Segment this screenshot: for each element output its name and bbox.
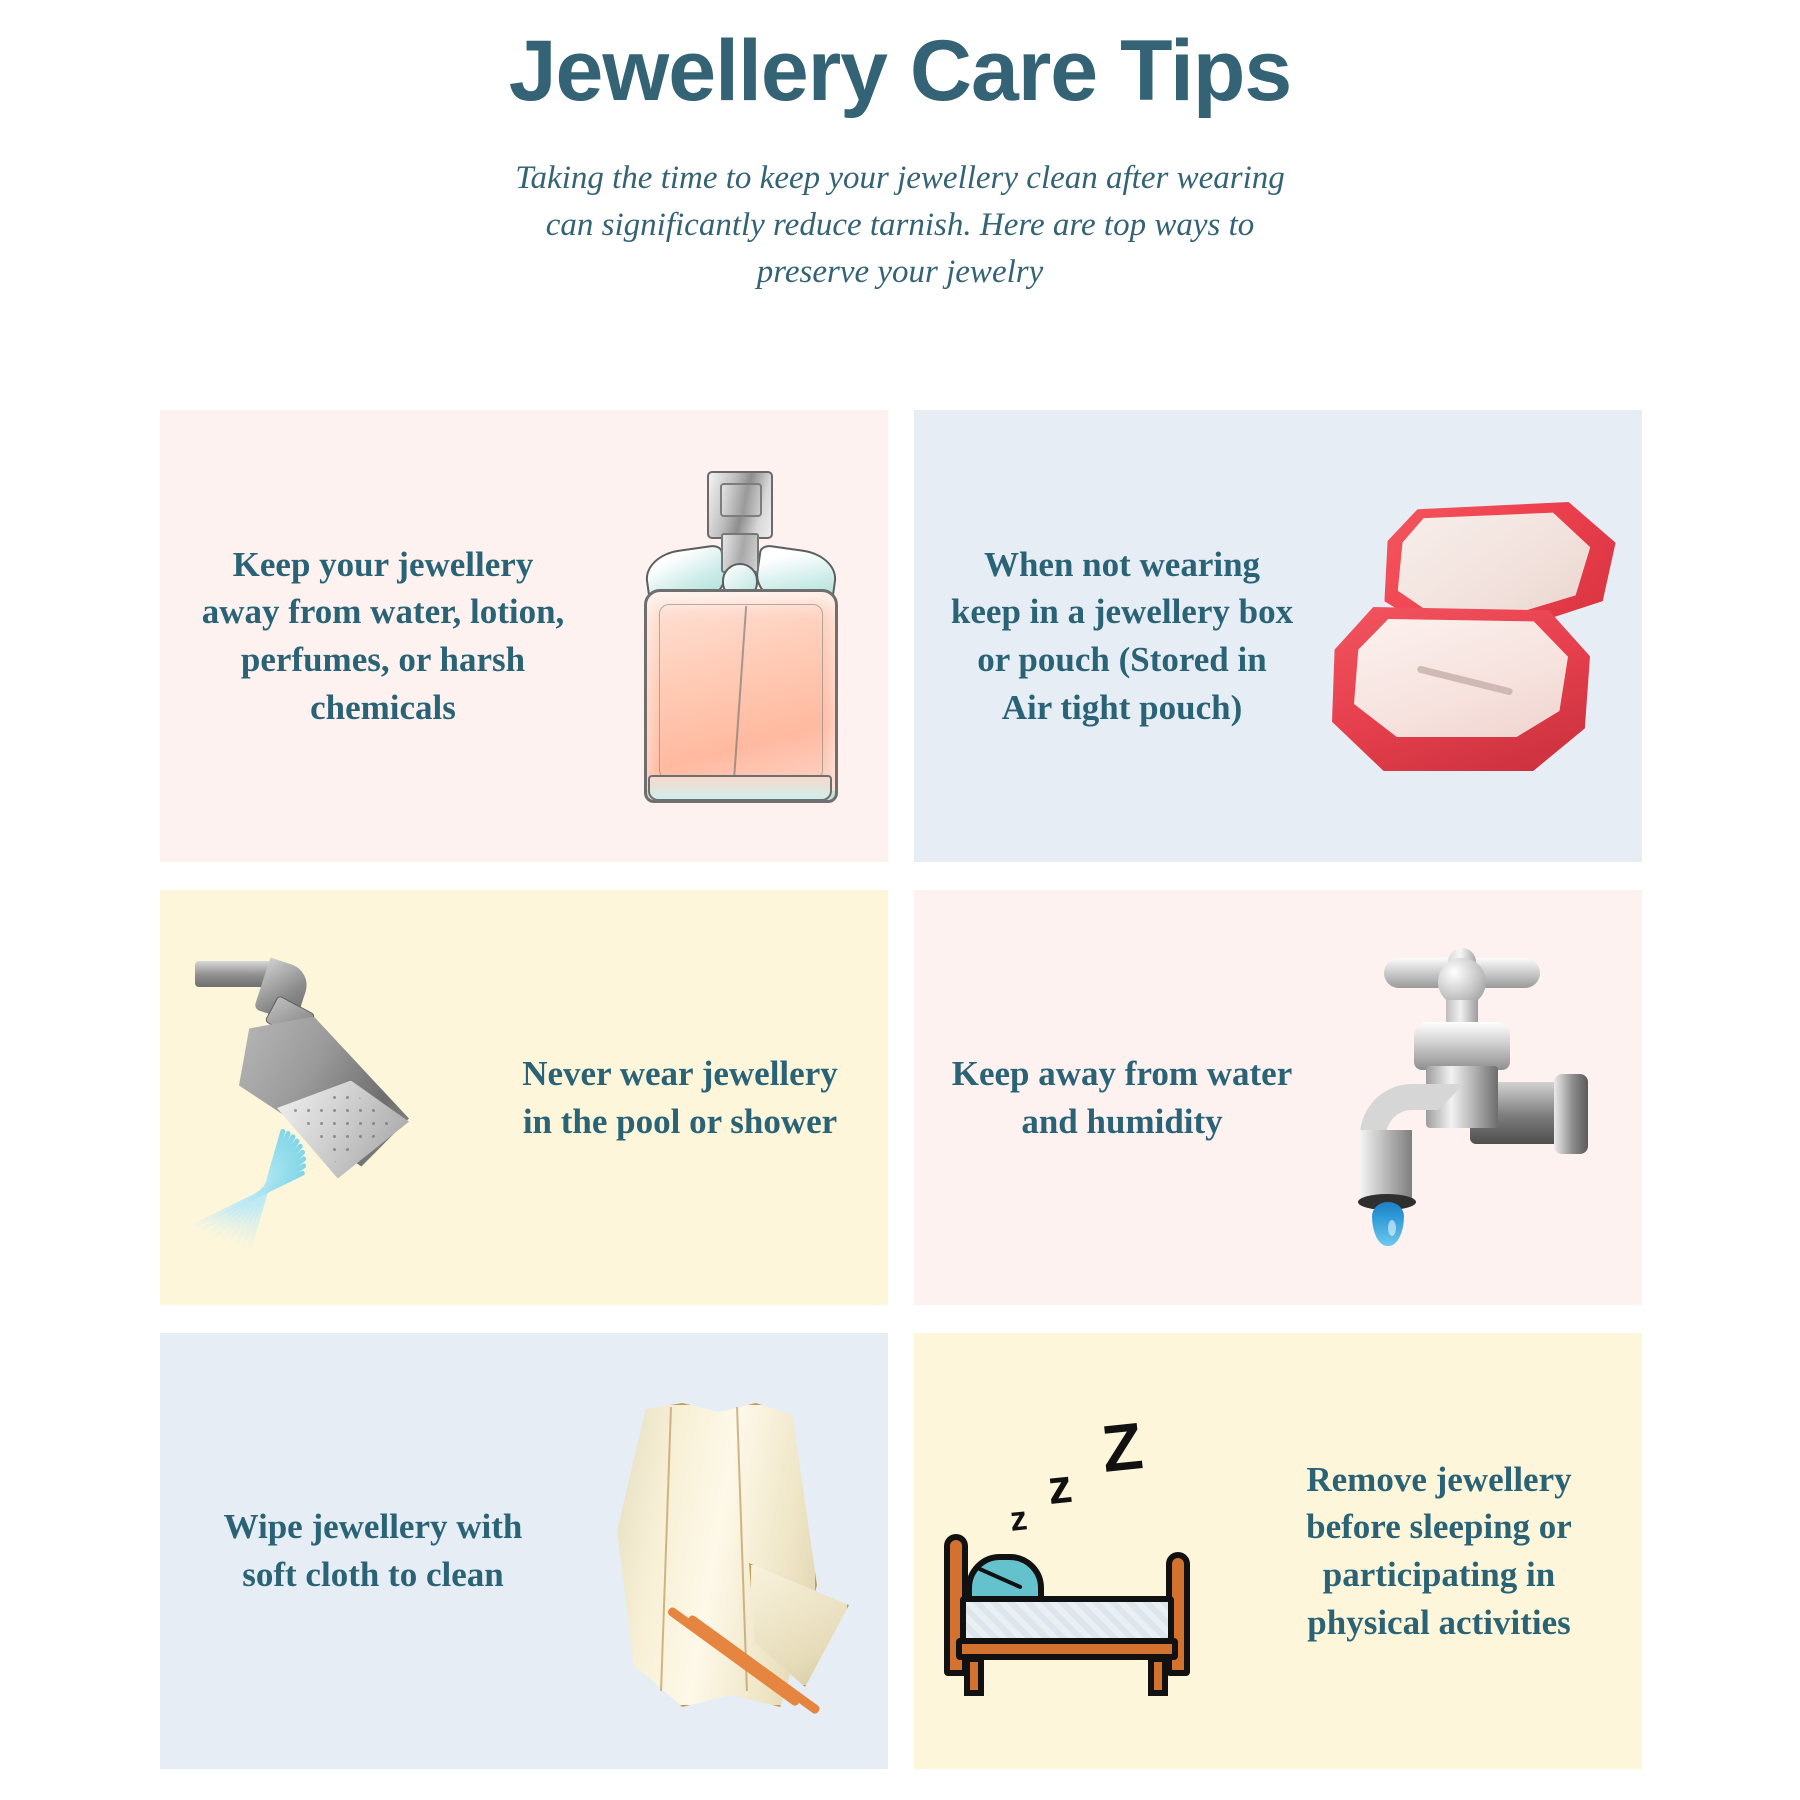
sleep-z-medium-icon: z <box>1046 1463 1075 1513</box>
perfume-bottle-icon <box>588 436 888 836</box>
sleep-z-small-icon: z <box>1008 1501 1028 1537</box>
tip-card-pool-shower: Never wear jewellery in the pool or show… <box>160 890 888 1305</box>
perfume-base-icon <box>648 775 832 801</box>
page-title: Jewellery Care Tips <box>0 26 1800 117</box>
bed-leg-right-icon <box>1148 1656 1168 1696</box>
bed-mattress-icon <box>960 1596 1174 1644</box>
tips-grid: Keep your jewellery away from water, lot… <box>160 410 1642 1769</box>
bed-pillow-icon <box>966 1554 1044 1602</box>
shower-spray-icon <box>281 1129 481 1279</box>
tip-card-text: Wipe jewellery with soft cloth to clean <box>160 1503 568 1598</box>
tip-card-wipe-cloth: Wipe jewellery with soft cloth to clean <box>160 1333 888 1769</box>
tip-card-text: Keep your jewellery away from water, lot… <box>160 541 588 731</box>
tip-card-storage: When not wearing keep in a jewellery box… <box>914 410 1642 862</box>
jewellery-box-icon <box>1312 436 1642 836</box>
header: Jewellery Care Tips Taking the time to k… <box>0 26 1800 296</box>
page-subtitle: Taking the time to keep your jewellery c… <box>500 155 1300 296</box>
shower-head-icon <box>160 898 490 1298</box>
bed-frame-icon <box>956 1638 1178 1660</box>
tip-card-text: Remove jewellery before sleeping or part… <box>1254 1456 1642 1646</box>
sleep-z-large-icon: Z <box>1099 1412 1146 1482</box>
faucet-flange-icon <box>1554 1074 1588 1154</box>
tip-card-text: Never wear jewellery in the pool or show… <box>490 1050 888 1145</box>
faucet-knob-icon <box>1438 958 1486 1006</box>
perfume-body-icon <box>644 589 838 803</box>
perfume-cap-icon <box>707 471 773 539</box>
tip-card-chemicals: Keep your jewellery away from water, lot… <box>160 410 888 862</box>
faucet-cap-icon <box>1414 1022 1510 1070</box>
tip-card-sleep-activity: Remove jewellery before sleeping or part… <box>914 1333 1642 1769</box>
bed-leg-left-icon <box>964 1656 984 1696</box>
water-droplet-icon <box>1372 1202 1404 1246</box>
tip-card-water-humidity: Keep away from water and humidity <box>914 890 1642 1305</box>
bed-sleep-icon: z z Z <box>914 1351 1254 1751</box>
tip-card-text: Keep away from water and humidity <box>914 1050 1312 1145</box>
faucet-icon <box>1312 898 1642 1298</box>
infographic-page: Jewellery Care Tips Taking the time to k… <box>0 0 1800 1800</box>
tip-card-text: When not wearing keep in a jewellery box… <box>914 541 1312 731</box>
cloth-icon <box>568 1351 888 1751</box>
